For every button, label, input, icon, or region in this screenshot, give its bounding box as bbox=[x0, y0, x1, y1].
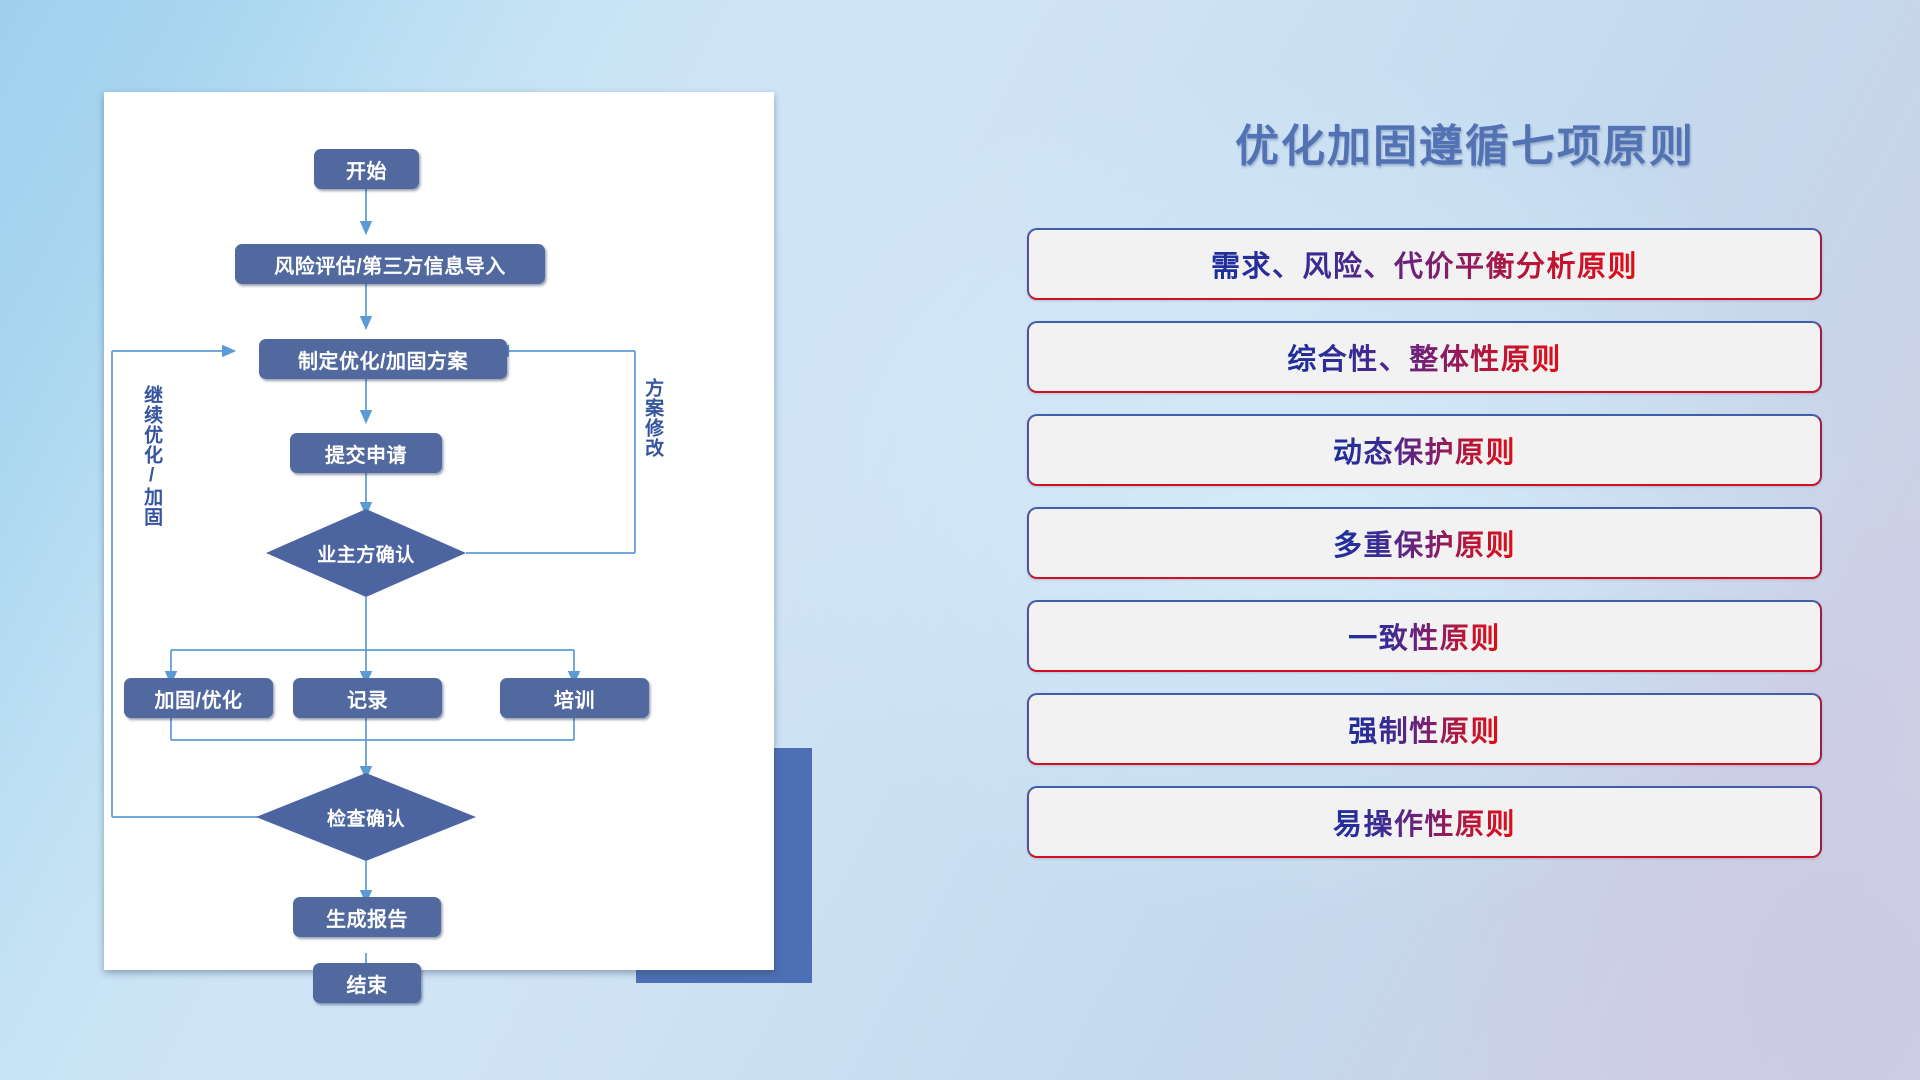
principle-item[interactable]: 一致性原则 bbox=[1027, 600, 1822, 672]
edge-label-continue-optimize: 继续优化/加固 bbox=[141, 385, 161, 527]
principle-item[interactable]: 动态保护原则 bbox=[1027, 414, 1822, 486]
flow-decision-inspection-confirm[interactable]: 检查确认 bbox=[256, 773, 476, 861]
flow-node-submit-application[interactable]: 提交申请 bbox=[290, 433, 442, 473]
principle-label: 需求、风险、代价平衡分析原则 bbox=[1211, 243, 1638, 285]
flow-node-plan[interactable]: 制定优化/加固方案 bbox=[259, 339, 507, 379]
flow-node-label: 制定优化/加固方案 bbox=[298, 345, 468, 374]
flow-decision-label: 业主方确认 bbox=[317, 540, 415, 567]
principle-label: 多重保护原则 bbox=[1333, 522, 1516, 564]
flow-node-label: 加固/优化 bbox=[154, 684, 242, 713]
principle-item[interactable]: 强制性原则 bbox=[1027, 693, 1822, 765]
edge-label-plan-revision: 方案修改 bbox=[642, 378, 662, 458]
flowchart-card: 继续优化/加固 方案修改 开始 风险评估/第三方信息导入 制定优化/加固方案 提… bbox=[104, 92, 774, 970]
flow-node-label: 提交申请 bbox=[325, 439, 407, 468]
principle-label: 强制性原则 bbox=[1348, 708, 1501, 750]
flow-node-label: 结束 bbox=[347, 969, 388, 998]
principle-label: 综合性、整体性原则 bbox=[1287, 336, 1562, 378]
flow-node-start[interactable]: 开始 bbox=[314, 149, 419, 189]
principles-panel: 优化加固遵循七项原则 需求、风险、代价平衡分析原则 综合性、整体性原则 动态保护… bbox=[1010, 0, 1920, 1080]
flow-node-label: 生成报告 bbox=[326, 903, 408, 932]
slide-canvas: 继续优化/加固 方案修改 开始 风险评估/第三方信息导入 制定优化/加固方案 提… bbox=[0, 0, 1920, 1080]
flow-node-risk-assessment[interactable]: 风险评估/第三方信息导入 bbox=[235, 244, 545, 284]
principle-label: 一致性原则 bbox=[1348, 615, 1501, 657]
flow-decision-label: 检查确认 bbox=[327, 804, 405, 831]
principle-item[interactable]: 多重保护原则 bbox=[1027, 507, 1822, 579]
flow-node-reinforce-optimize[interactable]: 加固/优化 bbox=[124, 678, 273, 718]
flow-node-training[interactable]: 培训 bbox=[500, 678, 649, 718]
principle-item[interactable]: 易操作性原则 bbox=[1027, 786, 1822, 858]
principle-item[interactable]: 综合性、整体性原则 bbox=[1027, 321, 1822, 393]
flow-node-record[interactable]: 记录 bbox=[293, 678, 442, 718]
flow-node-generate-report[interactable]: 生成报告 bbox=[293, 897, 441, 937]
principles-list: 需求、风险、代价平衡分析原则 综合性、整体性原则 动态保护原则 多重保护原则 一… bbox=[1027, 228, 1822, 879]
flow-node-label: 风险评估/第三方信息导入 bbox=[274, 250, 506, 279]
principle-label: 动态保护原则 bbox=[1333, 429, 1516, 471]
flow-node-label: 培训 bbox=[554, 684, 595, 713]
flow-decision-owner-confirm[interactable]: 业主方确认 bbox=[266, 509, 466, 597]
flow-node-end[interactable]: 结束 bbox=[313, 963, 421, 1003]
principle-label: 易操作性原则 bbox=[1333, 801, 1516, 843]
principle-item[interactable]: 需求、风险、代价平衡分析原则 bbox=[1027, 228, 1822, 300]
flow-node-label: 记录 bbox=[347, 684, 388, 713]
panel-title: 优化加固遵循七项原则 bbox=[1010, 110, 1920, 174]
flow-node-label: 开始 bbox=[346, 155, 387, 184]
